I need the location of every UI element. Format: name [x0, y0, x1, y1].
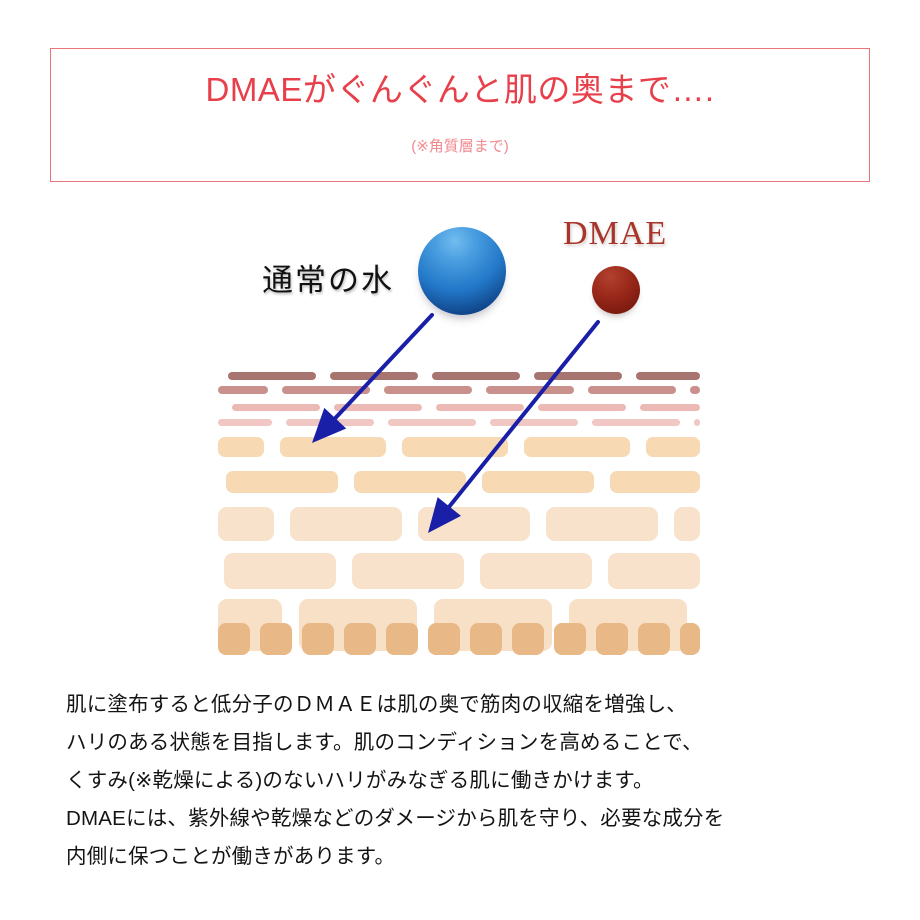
skin-cell [290, 507, 402, 541]
skin-cell [218, 437, 264, 457]
skin-cell [646, 437, 700, 457]
skin-cell [226, 471, 338, 493]
stratum-corneum-row-1 [0, 372, 920, 380]
description-line: くすみ(※乾燥による)のないハリがみなぎる肌に働きかけます。 [66, 762, 866, 800]
skin-cell [436, 404, 524, 411]
headline-banner: DMAEがぐんぐんと肌の奥まで…. (※角質層まで) [50, 48, 870, 182]
skin-cell [610, 471, 700, 493]
skin-cell [218, 623, 250, 655]
skin-cell [218, 507, 274, 541]
skin-cell [428, 623, 460, 655]
skin-cell [354, 471, 466, 493]
skin-cell [260, 623, 292, 655]
blue-water-molecule-sphere [418, 227, 506, 315]
description-line: 肌に塗布すると低分子のＤＭＡＥは肌の奥で筋肉の収縮を増強し、 [66, 686, 866, 724]
skin-cell [218, 419, 272, 426]
skin-cell [286, 419, 374, 426]
skin-cell [538, 404, 626, 411]
skin-cell [228, 372, 316, 380]
skin-cell [388, 419, 476, 426]
skin-cell [402, 437, 508, 457]
epidermis-row-3 [0, 507, 920, 541]
skin-cell [482, 471, 594, 493]
skin-cell [432, 372, 520, 380]
red-dmae-molecule-sphere [592, 266, 640, 314]
skin-cell [334, 404, 422, 411]
skin-cell [636, 372, 700, 380]
skin-cell [694, 419, 700, 426]
page-subtitle: (※角質層まで) [51, 135, 869, 156]
skin-cell [418, 507, 530, 541]
stratum-corneum-row-4 [0, 419, 920, 426]
skin-cell [588, 386, 676, 394]
skin-cell [218, 386, 268, 394]
skin-cell [280, 437, 386, 457]
skin-cell [638, 623, 670, 655]
epidermis-row-2 [0, 471, 920, 493]
skin-cell [640, 404, 700, 411]
skin-cell [596, 623, 628, 655]
description-line: 内側に保つことが働きがあります。 [66, 838, 866, 876]
skin-cell [690, 386, 700, 394]
skin-cell [490, 419, 578, 426]
skin-cell [480, 553, 592, 589]
skin-cell [592, 419, 680, 426]
skin-cell [282, 386, 370, 394]
skin-cell [486, 386, 574, 394]
skin-cell [386, 623, 418, 655]
skin-cell [224, 553, 336, 589]
skin-cell [554, 623, 586, 655]
description-line: ハリのある状態を目指します。肌のコンディションを高めることで、 [66, 724, 866, 762]
skin-penetration-illustration: 通常の水 DMAE [0, 195, 920, 675]
description-line: DMAEには、紫外線や乾燥などのダメージから肌を守り、必要な成分を [66, 800, 866, 838]
dermis-row-1 [0, 553, 920, 589]
skin-cell [608, 553, 700, 589]
skin-cell [546, 507, 658, 541]
skin-cell [384, 386, 472, 394]
skin-cell [524, 437, 630, 457]
skin-cell [470, 623, 502, 655]
description-paragraph: 肌に塗布すると低分子のＤＭＡＥは肌の奥で筋肉の収縮を増強し、ハリのある状態を目指… [66, 686, 866, 876]
skin-cell [512, 623, 544, 655]
basal-nub-row [0, 623, 920, 655]
skin-cell [352, 553, 464, 589]
skin-cell [302, 623, 334, 655]
epidermis-row-1 [0, 437, 920, 457]
stratum-corneum-row-2 [0, 386, 920, 394]
skin-cell [534, 372, 622, 380]
skin-cell [330, 372, 418, 380]
dmae-label: DMAE [563, 215, 667, 253]
skin-cell [344, 623, 376, 655]
page-title: DMAEがぐんぐんと肌の奥まで…. [51, 71, 869, 109]
stratum-corneum-row-3 [0, 404, 920, 411]
skin-cell [674, 507, 700, 541]
skin-cell [232, 404, 320, 411]
skin-cell [680, 623, 700, 655]
water-label: 通常の水 [262, 255, 394, 300]
